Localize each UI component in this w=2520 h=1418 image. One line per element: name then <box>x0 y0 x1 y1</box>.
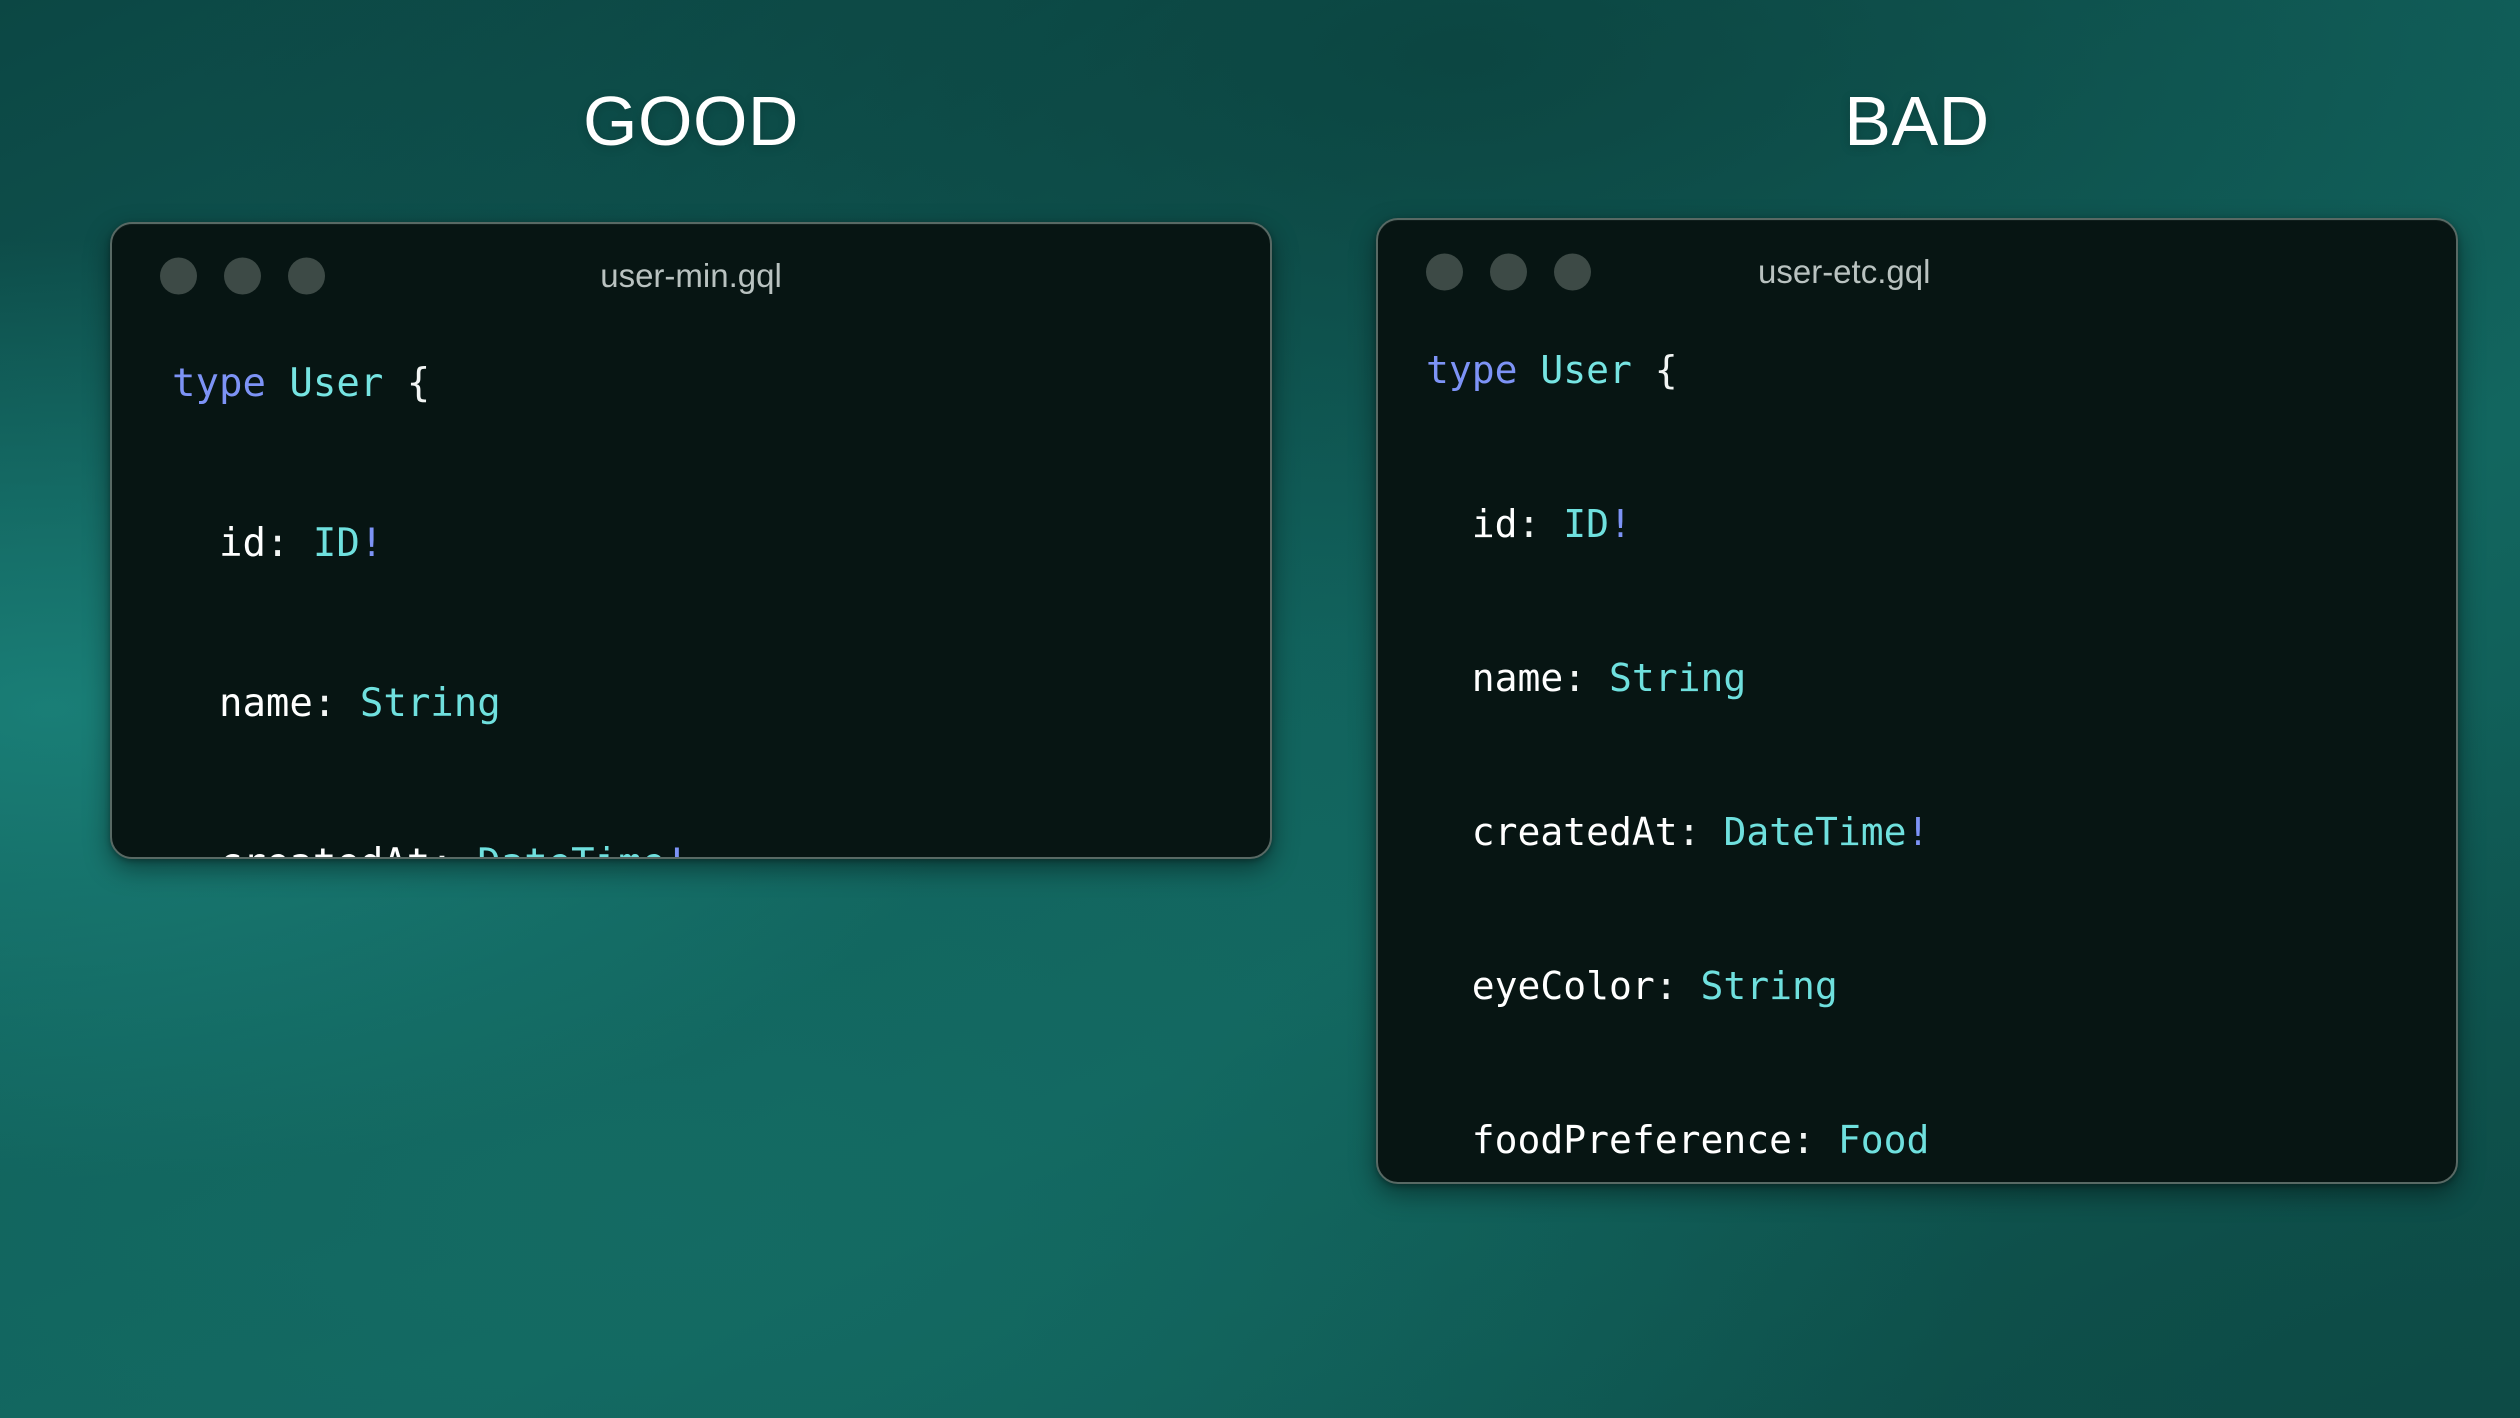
code-token-bang: ! <box>1609 502 1632 546</box>
code-line: createdAt: DateTime! <box>172 824 1270 859</box>
maximize-dot-icon[interactable] <box>288 258 325 295</box>
minimize-dot-icon[interactable] <box>224 258 261 295</box>
code-token-keyword: type <box>172 361 266 406</box>
code-token-plain: { <box>383 361 430 406</box>
code-token-type: ID <box>1563 502 1609 546</box>
code-line: id: ID! <box>172 504 1270 584</box>
code-token-plain: : <box>1655 964 1701 1008</box>
code-token-field: createdAt <box>1426 810 1678 854</box>
code-token-bang: ! <box>665 841 688 859</box>
code-token-field: id <box>1426 502 1518 546</box>
code-line: type User { <box>1426 332 2456 409</box>
code-token-field: name <box>1426 656 1563 700</box>
window-controls-good <box>160 258 325 295</box>
code-window-good: user-min.gql type User { id: ID! name: S… <box>110 222 1272 859</box>
code-line: name: String <box>172 664 1270 744</box>
code-token-type: String <box>360 681 501 726</box>
code-token-bang: ! <box>360 521 383 566</box>
code-token-type: ID <box>313 521 360 566</box>
code-token-type: String <box>1609 656 1746 700</box>
code-line: id: ID! <box>1426 486 2456 563</box>
code-line: eyeColor: String <box>1426 948 2456 1025</box>
slide-canvas: GOOD user-min.gql type User { id: ID! na… <box>0 0 2520 1418</box>
code-token-field: createdAt <box>172 841 430 859</box>
window-controls-bad <box>1426 254 1591 291</box>
code-token-plain: { <box>1632 348 1678 392</box>
filename-label-bad: user-etc.gql <box>1758 253 1930 291</box>
close-dot-icon[interactable] <box>160 258 197 295</box>
code-line: foodPreference: Food <box>1426 1102 2456 1179</box>
code-token-plain: : <box>266 521 313 566</box>
titlebar-good: user-min.gql <box>112 224 1270 328</box>
code-token-type: Food <box>1838 1118 1930 1162</box>
code-token-plain <box>1518 348 1541 392</box>
code-token-plain <box>266 361 289 406</box>
code-line: name: String <box>1426 640 2456 717</box>
code-token-type_name: User <box>289 361 383 406</box>
code-token-type: String <box>1701 964 1838 1008</box>
code-token-plain: : <box>1678 810 1724 854</box>
code-token-type: DateTime <box>477 841 665 859</box>
code-token-field: eyeColor <box>1426 964 1655 1008</box>
bad-heading: BAD <box>1376 86 2458 156</box>
code-token-plain: : <box>313 681 360 726</box>
code-block-bad: type User { id: ID! name: String created… <box>1378 324 2456 1184</box>
code-window-bad: user-etc.gql type User { id: ID! name: S… <box>1376 218 2458 1184</box>
code-token-bang: ! <box>1906 810 1929 854</box>
code-token-plain: : <box>1518 502 1564 546</box>
maximize-dot-icon[interactable] <box>1554 254 1591 291</box>
code-block-good: type User { id: ID! name: String created… <box>112 328 1270 859</box>
code-token-plain: : <box>1792 1118 1838 1162</box>
titlebar-bad: user-etc.gql <box>1378 220 2456 324</box>
code-token-type: DateTime <box>1723 810 1906 854</box>
code-line: createdAt: DateTime! <box>1426 794 2456 871</box>
good-heading: GOOD <box>110 86 1272 156</box>
code-token-field: name <box>172 681 313 726</box>
code-line: type User { <box>172 344 1270 424</box>
minimize-dot-icon[interactable] <box>1490 254 1527 291</box>
code-token-type_name: User <box>1540 348 1632 392</box>
code-token-keyword: type <box>1426 348 1518 392</box>
code-token-field: foodPreference <box>1426 1118 1792 1162</box>
code-token-plain: : <box>430 841 477 859</box>
filename-label-good: user-min.gql <box>600 257 782 295</box>
code-token-field: id <box>172 521 266 566</box>
code-token-plain: : <box>1563 656 1609 700</box>
close-dot-icon[interactable] <box>1426 254 1463 291</box>
